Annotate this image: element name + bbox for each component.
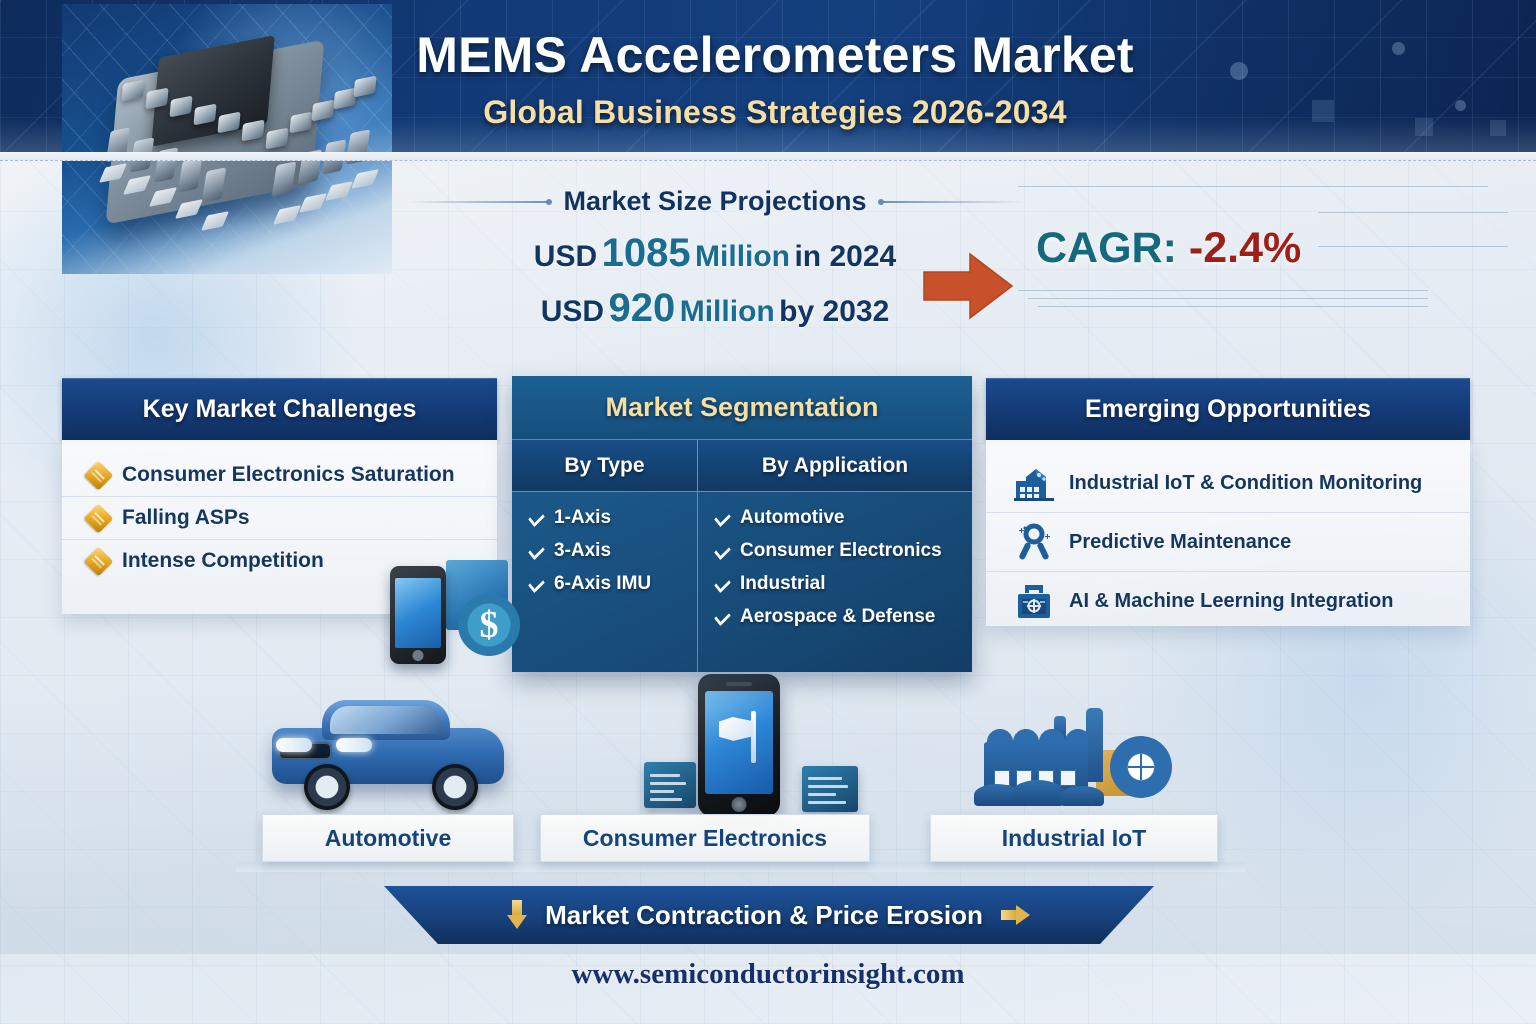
- factory-icon: [1012, 463, 1056, 503]
- challenge-label: Falling ASPs: [122, 506, 250, 530]
- challenges-header: Key Market Challenges: [62, 378, 497, 440]
- car-headlight: [336, 738, 372, 752]
- emerging-opportunities-panel: Emerging Opportunities: [986, 378, 1470, 626]
- segmentation-column-by-type: By Type 1-Axis 3-Axis 6-Axis IMU: [512, 440, 698, 672]
- dollar-gear-icon: $: [458, 594, 520, 656]
- chevron-down-bullet-icon: [714, 577, 731, 592]
- car-wheel: [304, 764, 350, 810]
- list-item[interactable]: Falling ASPs: [62, 496, 497, 539]
- segmentation-header: Market Segmentation: [512, 376, 972, 440]
- type-label: 6-Axis IMU: [554, 573, 651, 595]
- market-size-heading-row: Market Size Projections: [405, 186, 1025, 217]
- chevron-down-bullet-icon: [528, 577, 545, 592]
- factory-bush: [1012, 780, 1064, 806]
- phone-screen-flag: [719, 717, 753, 743]
- list-item[interactable]: AI & Machine Leerning Integration: [986, 571, 1470, 630]
- opportunities-title: Emerging Opportunities: [1085, 395, 1371, 424]
- type-label: 1-Axis: [554, 507, 611, 529]
- column-header: By Type: [512, 440, 697, 492]
- phone-screen: [705, 691, 773, 794]
- chevron-down-bullet-icon: [714, 544, 731, 559]
- opportunity-label: AI & Machine Leerning Integration: [1069, 590, 1393, 613]
- illustration-shelf: [236, 862, 1246, 872]
- usd-label: USD: [541, 295, 604, 328]
- list-item[interactable]: Consumer Electronics: [714, 536, 972, 569]
- orange-right-arrow-icon: [922, 250, 1014, 322]
- circuit-node-icon: [1455, 100, 1466, 111]
- year-2032: by 2032: [779, 295, 889, 328]
- decoration-smartphone: [390, 566, 446, 664]
- factory-smokestack: [1086, 708, 1103, 782]
- header-divider: [0, 152, 1536, 161]
- cagr-section: CAGR: -2.4%: [1018, 182, 1508, 332]
- segmentation-title: Market Segmentation: [605, 392, 878, 423]
- chevron-down-bullet-icon: [528, 544, 545, 559]
- challenges-title: Key Market Challenges: [143, 395, 417, 424]
- list-item[interactable]: 6-Axis IMU: [528, 569, 697, 602]
- category-label-automotive[interactable]: Automotive: [262, 814, 514, 862]
- opportunities-list: Industrial IoT & Condition Monitoring Pr…: [986, 440, 1470, 626]
- circuit-node-icon: [1392, 42, 1405, 55]
- list-item[interactable]: Automotive: [714, 503, 972, 536]
- document-card-left: [644, 762, 696, 808]
- category-label-consumer-electronics[interactable]: Consumer Electronics: [540, 814, 870, 862]
- unit-label: Million: [680, 295, 775, 328]
- page-title: MEMS Accelerometers Market: [370, 26, 1180, 84]
- decorative-line-right: [883, 201, 1025, 203]
- infographic-canvas: MEMS Accelerometers Market Global Busine…: [0, 0, 1536, 1024]
- phone-screen-pole: [751, 711, 756, 763]
- application-label: Consumer Electronics: [740, 540, 942, 562]
- bottom-banner: Market Contraction & Price Erosion: [384, 886, 1154, 944]
- gold-diamond-bullet-icon: [84, 503, 114, 533]
- value-2024: 1085: [602, 231, 691, 275]
- smartphone-image: [698, 674, 780, 816]
- car-windows: [330, 706, 442, 734]
- application-label: Industrial: [740, 573, 826, 595]
- cagr-text-row: CAGR: -2.4%: [1036, 224, 1301, 273]
- circuit-node-icon: [1230, 62, 1248, 80]
- blue-sedan-car-image: [264, 694, 514, 812]
- list-item[interactable]: Predictive Maintenance: [986, 512, 1470, 571]
- machine-ai-icon: [1012, 581, 1056, 621]
- list-item[interactable]: Aerospace & Defense: [714, 602, 972, 635]
- footer-url[interactable]: www.semiconductorinsight.com: [571, 958, 964, 990]
- challenge-label: Intense Competition: [122, 549, 324, 573]
- category-text: Industrial IoT: [1002, 825, 1146, 852]
- list-item[interactable]: 3-Axis: [528, 536, 697, 569]
- car-wheel: [432, 764, 478, 810]
- segmentation-column-by-application: By Application Automotive Consumer Elect…: [698, 440, 972, 672]
- gold-down-arrow-icon: [507, 900, 527, 930]
- category-text: Consumer Electronics: [583, 825, 827, 852]
- category-text: Automotive: [325, 825, 452, 852]
- list-item[interactable]: 1-Axis: [528, 503, 697, 536]
- type-label: 3-Axis: [554, 540, 611, 562]
- opportunity-label: Predictive Maintenance: [1069, 531, 1291, 554]
- application-label: Automotive: [740, 507, 845, 529]
- gold-right-arrow-icon: [1001, 905, 1031, 925]
- cagr-value: -2.4%: [1189, 224, 1301, 272]
- gold-diamond-bullet-icon: [84, 460, 114, 490]
- wrench-tools-icon: [1012, 522, 1056, 562]
- list-item[interactable]: Industrial IoT & Condition Monitoring: [986, 454, 1470, 512]
- chevron-down-bullet-icon: [528, 511, 545, 526]
- title-block: MEMS Accelerometers Market Global Busine…: [370, 26, 1180, 131]
- footer: www.semiconductorinsight.com: [0, 958, 1536, 991]
- gear-icon: [1110, 736, 1172, 798]
- list-item[interactable]: Industrial: [714, 569, 972, 602]
- banner-text: Market Contraction & Price Erosion: [545, 900, 983, 931]
- car-headlight: [276, 738, 312, 752]
- segmentation-grid: By Type 1-Axis 3-Axis 6-Axis IMU: [512, 440, 972, 672]
- by-application-list: Automotive Consumer Electronics Industri…: [698, 492, 972, 635]
- by-type-header: By Type: [564, 454, 644, 478]
- phone-dollar-decoration: $: [384, 544, 524, 670]
- factory-bush: [1060, 786, 1104, 806]
- opportunity-label: Industrial IoT & Condition Monitoring: [1069, 472, 1422, 495]
- chevron-down-bullet-icon: [714, 610, 731, 625]
- value-2032: 920: [609, 286, 676, 330]
- phone-speaker: [726, 682, 752, 686]
- cagr-label: CAGR:: [1036, 224, 1177, 272]
- market-size-heading: Market Size Projections: [563, 186, 866, 217]
- page-subtitle: Global Business Strategies 2026-2034: [370, 94, 1180, 131]
- column-header: By Application: [698, 440, 972, 492]
- factory-gear-image: [968, 700, 1178, 812]
- chevron-down-bullet-icon: [714, 511, 731, 526]
- gold-diamond-bullet-icon: [84, 546, 114, 576]
- by-application-header: By Application: [762, 454, 908, 478]
- application-label: Aerospace & Defense: [740, 606, 935, 628]
- opportunities-header: Emerging Opportunities: [986, 378, 1470, 440]
- by-type-list: 1-Axis 3-Axis 6-Axis IMU: [512, 492, 697, 602]
- unit-label: Million: [695, 240, 790, 273]
- phone-home-button: [732, 797, 747, 812]
- challenge-label: Consumer Electronics Saturation: [122, 463, 455, 487]
- document-card-right: [802, 766, 858, 812]
- decorative-line-left: [405, 201, 547, 203]
- factory-sawtooth-roof: [984, 728, 1088, 742]
- year-2024: in 2024: [794, 240, 896, 273]
- market-segmentation-panel: Market Segmentation By Type 1-Axis 3-Axi…: [512, 376, 972, 672]
- list-item[interactable]: Consumer Electronics Saturation: [62, 454, 497, 496]
- category-label-industrial-iot[interactable]: Industrial IoT: [930, 814, 1218, 862]
- usd-label: USD: [534, 240, 597, 273]
- mems-chip-image: [62, 4, 392, 274]
- factory-window: [1060, 770, 1076, 786]
